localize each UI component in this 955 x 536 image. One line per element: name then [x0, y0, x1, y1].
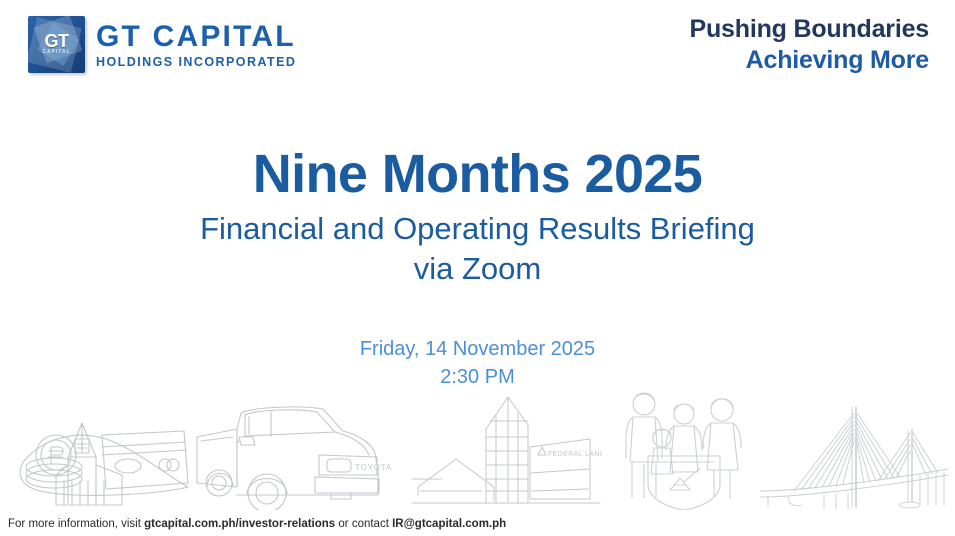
company-name: GT CAPITAL	[96, 21, 296, 53]
gt-capital-logo-icon: GT CAPITAL	[28, 16, 85, 73]
gt-capital-logo: GT CAPITAL GT CAPITAL HOLDINGS INCORPORA…	[28, 16, 296, 73]
event-time: 2:30 PM	[0, 363, 955, 391]
corporate-tagline: Pushing Boundaries Achieving More	[690, 14, 929, 75]
footer-middle: or contact	[335, 518, 392, 530]
footer-contact-info: For more information, visit gtcapital.co…	[8, 518, 506, 530]
tagline-line-2: Achieving More	[690, 45, 929, 76]
footer-website[interactable]: gtcapital.com.ph/investor-relations	[144, 518, 335, 530]
page-subtitle-line-2: via Zoom	[0, 249, 955, 289]
event-schedule: Friday, 14 November 2025 2:30 PM	[0, 335, 955, 392]
slide-header: GT CAPITAL GT CAPITAL HOLDINGS INCORPORA…	[0, 0, 955, 100]
event-date: Friday, 14 November 2025	[0, 335, 955, 363]
page-subtitle-line-1: Financial and Operating Results Briefing	[0, 209, 955, 249]
page-subtitle: Financial and Operating Results Briefing…	[0, 209, 955, 288]
infrastructure-illustration	[760, 395, 950, 510]
logo-monogram: GT	[28, 32, 85, 50]
title-block: Nine Months 2025 Financial and Operating…	[0, 145, 955, 289]
logo-wordmark: GT CAPITAL HOLDINGS INCORPORATED	[96, 21, 296, 68]
insurance-illustration	[618, 388, 753, 510]
logo-monogram-subtext: CAPITAL	[28, 50, 85, 55]
banking-illustration	[6, 395, 196, 510]
business-segment-illustrations: TOYOTA	[0, 390, 955, 510]
company-subtitle: HOLDINGS INCORPORATED	[96, 56, 296, 69]
automotive-illustration: TOYOTA	[193, 395, 398, 510]
footer-prefix: For more information, visit	[8, 518, 144, 530]
svg-text:FEDERAL LAND: FEDERAL LAND	[548, 451, 602, 458]
svg-text:TOYOTA: TOYOTA	[355, 463, 392, 472]
footer-email[interactable]: IR@gtcapital.com.ph	[392, 518, 506, 530]
page-title: Nine Months 2025	[0, 145, 955, 203]
property-illustration: FEDERAL LAND	[412, 395, 602, 510]
presentation-slide: GT CAPITAL GT CAPITAL HOLDINGS INCORPORA…	[0, 0, 955, 536]
tagline-line-1: Pushing Boundaries	[690, 14, 929, 45]
